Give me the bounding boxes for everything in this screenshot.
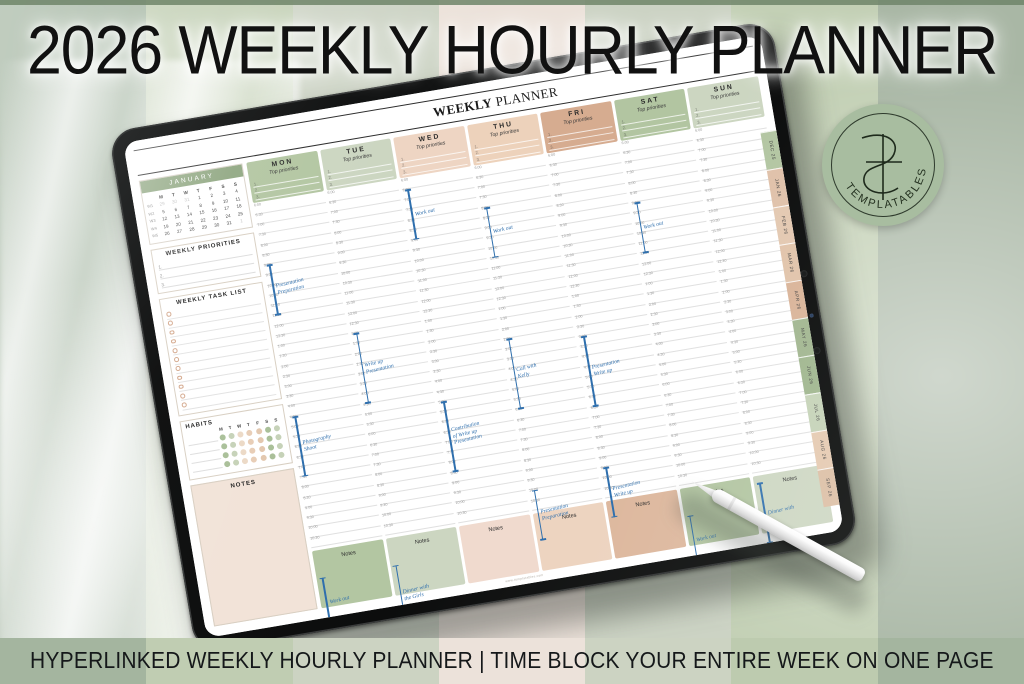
calendar-day-cell[interactable]: 31 <box>222 218 236 227</box>
day-priority-number: 1. <box>620 119 625 125</box>
sensor-dot <box>813 347 821 355</box>
time-slot-label: 12:30 <box>349 322 359 327</box>
time-slot-label: 5:30 <box>293 435 301 440</box>
habit-dot[interactable] <box>260 454 267 461</box>
day-priority-number: 1. <box>547 131 552 137</box>
time-slot-label: 12:00 <box>274 324 284 329</box>
time-slot-label: 5:00 <box>438 400 446 405</box>
month-tab-label: MAY 26 <box>800 328 808 348</box>
time-slot-label: 10:30 <box>751 461 761 466</box>
time-slot-label: 12:00 <box>347 311 357 316</box>
time-slot-label: 9:00 <box>672 444 680 449</box>
habit-dot[interactable] <box>256 428 263 435</box>
time-slot-label: 9:30 <box>306 516 314 521</box>
time-slot-label: 8:30 <box>670 434 678 439</box>
time-slot-label: 4:00 <box>287 405 295 410</box>
time-slot-label: 9:30 <box>339 261 347 266</box>
time-slot-label: 11:30 <box>272 314 282 319</box>
time-slot-label: 6:30 <box>549 163 557 168</box>
time-slot-label: 6:30 <box>664 393 672 398</box>
time-slot-label: 7:00 <box>404 198 412 203</box>
time-slot-label: 7:30 <box>741 401 749 406</box>
time-slot-label: 5:30 <box>734 361 742 366</box>
month-tab-label: SEP 26 <box>825 478 833 498</box>
habit-dot[interactable] <box>239 440 246 447</box>
time-slot-label: 9:00 <box>337 251 345 256</box>
day-notes-label: Notes <box>488 525 511 579</box>
time-slot-label: 10:30 <box>530 498 540 503</box>
task-checkbox-icon[interactable] <box>169 330 174 335</box>
time-slot-label: 5:30 <box>513 398 521 403</box>
time-slot-label: 12:30 <box>717 259 727 264</box>
time-slot-label: 8:30 <box>409 229 417 234</box>
day-priority-number: 2. <box>327 175 332 181</box>
calendar-day-cell[interactable]: 1 <box>235 216 249 225</box>
month-calendar[interactable]: JANUARY MTWTFSSW12930311234W2567891011W3… <box>139 163 253 245</box>
time-slot-label: 4:00 <box>508 368 516 373</box>
month-tab-label: DEC 25 <box>768 140 776 160</box>
time-slot-label: 5:00 <box>732 350 740 355</box>
time-slot-label: 1:00 <box>645 282 653 287</box>
time-slot-label: 2:30 <box>503 337 511 342</box>
background-top-strip <box>0 0 1024 5</box>
time-slot-label: 12:00 <box>641 262 651 267</box>
time-slot-label: 10:00 <box>749 451 759 456</box>
time-slot-label: 6:00 <box>253 203 261 208</box>
habit-dot[interactable] <box>222 452 229 459</box>
day-notes-box[interactable]: Notes <box>606 489 686 558</box>
day-notes-box[interactable]: Notes <box>459 514 539 583</box>
time-slot-label: 8:00 <box>742 411 750 416</box>
time-slot-label: 1:30 <box>647 292 655 297</box>
time-slot-label: 9:00 <box>452 481 460 486</box>
time-slot-label: 8:30 <box>482 216 490 221</box>
time-slot-label: 11:30 <box>346 301 356 306</box>
time-slot-label: 8:30 <box>335 241 343 246</box>
time-slot-label: 1:30 <box>720 280 728 285</box>
time-slot-label: 12:00 <box>421 299 431 304</box>
day-priority-number: 2. <box>474 150 479 156</box>
indicator-dot <box>809 313 814 318</box>
habit-dot[interactable] <box>274 425 281 432</box>
habit-dot[interactable] <box>231 450 238 457</box>
habit-dot[interactable] <box>257 437 264 444</box>
time-slot-label: 9:30 <box>527 479 535 484</box>
time-slot-label: 7:30 <box>479 196 487 201</box>
time-slot-label: 7:30 <box>373 463 381 468</box>
time-slot-label: 9:00 <box>525 469 533 474</box>
time-slot-label: 7:00 <box>330 211 338 216</box>
time-slot-label: 10:30 <box>457 511 467 516</box>
bottom-banner: HYPERLINKED WEEKLY HOURLY PLANNER | TIME… <box>0 638 1024 684</box>
time-slot-label: 10:30 <box>636 231 646 236</box>
time-slot-label: 11:30 <box>713 239 723 244</box>
time-slot-label: 1:30 <box>352 342 360 347</box>
time-slot-label: 6:00 <box>327 191 335 196</box>
time-slot-label: 8:30 <box>629 191 637 196</box>
time-slot-label: 7:00 <box>477 186 485 191</box>
time-slot-label: 7:00 <box>698 149 706 154</box>
time-slot-label: 6:30 <box>296 455 304 460</box>
time-slot-label: 2:00 <box>575 315 583 320</box>
month-tab-label: APR 26 <box>793 290 801 310</box>
time-slot-label: 7:30 <box>553 184 561 189</box>
day-priority-number: 3. <box>255 194 260 200</box>
time-slot-label: 6:30 <box>255 213 263 218</box>
habit-dot[interactable] <box>242 458 249 465</box>
time-slot-label: 12:30 <box>570 284 580 289</box>
tablet-device: WEEKLY PLANNER JANUARY MTWTFSSW129303112… <box>108 16 892 684</box>
time-slot-label: 3:00 <box>725 310 733 315</box>
time-slot-label: 10:30 <box>383 523 393 528</box>
time-slot-label: 10:30 <box>342 281 352 286</box>
time-slot-label: 9:30 <box>706 199 714 204</box>
time-slot-label: 9:00 <box>558 214 566 219</box>
time-slot-label: 7:30 <box>299 476 307 481</box>
time-slot-label: 6:00 <box>515 408 523 413</box>
time-slot-label: 9:30 <box>600 466 608 471</box>
habit-dot[interactable] <box>228 433 235 440</box>
habit-name-field[interactable] <box>192 462 223 473</box>
time-slot-label: 5:00 <box>585 375 593 380</box>
time-slot-label: 4:30 <box>730 340 738 345</box>
time-slot-label: 8:30 <box>703 179 711 184</box>
time-slot-label: 4:30 <box>510 378 518 383</box>
task-checkbox-icon[interactable] <box>181 402 186 407</box>
time-slot-label: 2:00 <box>648 302 656 307</box>
month-tab-label: JUN 26 <box>806 365 814 384</box>
habit-dot[interactable] <box>275 434 282 441</box>
time-slot-label: 11:30 <box>419 289 429 294</box>
time-slot-label: 11:00 <box>491 266 501 271</box>
time-slot-label: 11:30 <box>566 264 576 269</box>
time-slot-label: 6:00 <box>735 371 743 376</box>
time-slot-label: 8:30 <box>450 471 458 476</box>
time-slot-label: 9:30 <box>559 224 567 229</box>
priority-number: 3. <box>161 282 166 288</box>
day-priority-number: 1. <box>326 168 331 174</box>
time-slot-label: 9:00 <box>378 493 386 498</box>
habits-panel[interactable]: HABITS MTWTFSS <box>179 403 293 480</box>
time-slot-label: 9:30 <box>486 236 494 241</box>
time-slot-label: 10:30 <box>489 256 499 261</box>
time-slot-label: 5:30 <box>587 385 595 390</box>
task-checkbox-icon[interactable] <box>174 357 179 362</box>
time-slot-label: 10:00 <box>308 526 318 531</box>
time-slot-label: 3:30 <box>580 345 588 350</box>
time-slot-label: 6:30 <box>737 381 745 386</box>
time-slot-label: 7:30 <box>667 413 675 418</box>
sidebar-notes-panel[interactable]: NOTES <box>190 468 317 627</box>
time-slot-label: 10:00 <box>340 271 350 276</box>
habit-dot[interactable] <box>269 453 276 460</box>
time-slot-label: 6:00 <box>368 433 376 438</box>
time-slot-label: 10:00 <box>635 221 645 226</box>
time-slot-label: 12:30 <box>423 309 433 314</box>
time-slot-label: 2:30 <box>723 300 731 305</box>
day-priority-number: 3. <box>622 132 627 138</box>
time-slot-label: 5:30 <box>440 410 448 415</box>
time-slot-label: 10:00 <box>488 246 498 251</box>
day-priority-number: 1. <box>473 143 478 149</box>
task-list-lines[interactable] <box>166 295 277 410</box>
time-slot-label: 8:00 <box>260 243 268 248</box>
day-notes-box[interactable]: Notes <box>312 539 392 608</box>
time-slot-label: 10:00 <box>708 209 718 214</box>
habit-dot[interactable] <box>268 444 275 451</box>
priority-number: 2. <box>159 273 164 279</box>
day-priority-number: 2. <box>401 162 406 168</box>
time-slot-label: 10:00 <box>602 476 612 481</box>
time-slot-label: 4:00 <box>582 355 590 360</box>
task-checkbox-icon[interactable] <box>175 366 180 371</box>
day-notes-label: Notes <box>415 537 438 591</box>
time-slot-label: 7:30 <box>446 451 454 456</box>
day-priority-number: 1. <box>694 106 699 112</box>
time-slot-label: 3:30 <box>727 320 735 325</box>
sidebar-notes-title: NOTES <box>230 479 277 612</box>
time-slot-label: 3:30 <box>359 382 367 387</box>
time-slot-label: 6:00 <box>694 128 702 133</box>
time-slot-label: 8:30 <box>597 446 605 451</box>
time-slot-label: 3:00 <box>358 372 366 377</box>
time-slot-label: 6:30 <box>443 431 451 436</box>
time-slot-label: 8:00 <box>407 219 415 224</box>
time-slot-label: 6:30 <box>476 176 484 181</box>
time-slot-label: 7:00 <box>518 428 526 433</box>
time-slot-label: 2:30 <box>650 312 658 317</box>
time-slot-label: 10:00 <box>414 259 424 264</box>
time-slot-label: 4:30 <box>657 353 665 358</box>
habit-dot[interactable] <box>278 451 285 458</box>
day-priority-number: 1. <box>400 156 405 162</box>
day-priority-number: 3. <box>696 119 701 125</box>
habit-dot[interactable] <box>248 438 255 445</box>
calendar-day-cell[interactable]: 27 <box>173 227 187 236</box>
task-checkbox-icon[interactable] <box>166 312 171 317</box>
habit-dot[interactable] <box>223 461 230 468</box>
habit-dot[interactable] <box>237 431 244 438</box>
time-slot-label: 2:00 <box>281 365 289 370</box>
svg-text:TEMPLATABLES: TEMPLATABLES <box>843 166 930 211</box>
calendar-day-cell[interactable]: 28 <box>185 225 199 234</box>
time-slot-label: 9:30 <box>453 491 461 496</box>
time-slot-label: 1:00 <box>351 332 359 337</box>
calendar-day-cell[interactable]: 30 <box>210 221 224 230</box>
tablet-frame: WEEKLY PLANNER JANUARY MTWTFSSW129303112… <box>108 20 859 653</box>
time-slot-label: 9:00 <box>264 264 272 269</box>
time-slot-label: 1:30 <box>499 317 507 322</box>
time-slot-label: 6:30 <box>590 406 598 411</box>
time-slot-label: 8:00 <box>669 423 677 428</box>
habit-dot[interactable] <box>251 456 258 463</box>
time-slot-label: 6:00 <box>588 396 596 401</box>
habit-dot[interactable] <box>265 426 272 433</box>
task-checkbox-icon[interactable] <box>168 321 173 326</box>
time-slot-label: 10:30 <box>563 244 573 249</box>
month-tab-label: FEB 26 <box>781 216 789 235</box>
day-notes-box[interactable]: Notes <box>385 527 465 596</box>
time-slot-label: 11:00 <box>564 254 574 259</box>
time-slot-label: 1:30 <box>573 305 581 310</box>
time-slot-label: 2:00 <box>354 352 362 357</box>
time-slot-label: 1:30 <box>279 354 287 359</box>
time-slot-label: 8:30 <box>262 254 270 259</box>
time-slot-label: 12:30 <box>275 334 285 339</box>
time-slot-label: 8:30 <box>744 421 752 426</box>
habit-dot[interactable] <box>219 434 226 441</box>
time-slot-label: 4:00 <box>655 343 663 348</box>
time-slot-label: 9:30 <box>674 454 682 459</box>
month-tab-label: AUG 26 <box>819 440 827 461</box>
task-checkbox-icon[interactable] <box>177 375 182 380</box>
time-slot-label: 1:00 <box>277 344 285 349</box>
time-slot-label: 9:00 <box>304 506 312 511</box>
time-slot-label: 11:00 <box>417 279 427 284</box>
time-slot-label: 7:30 <box>405 209 413 214</box>
time-slot-label: 7:00 <box>624 161 632 166</box>
time-slot-label: 2:30 <box>356 362 364 367</box>
time-slot-label: 8:00 <box>481 206 489 211</box>
month-tab-label: MAR 26 <box>787 252 795 273</box>
day-priority-number: 3. <box>475 156 480 162</box>
time-slot-label: 5:30 <box>660 373 668 378</box>
time-slot-label: 2:00 <box>428 340 436 345</box>
time-slot-label: 12:00 <box>494 287 504 292</box>
habit-dot[interactable] <box>249 447 256 454</box>
habit-dot[interactable] <box>259 446 266 453</box>
time-slot-label: 1:00 <box>498 307 506 312</box>
time-slot-label: 6:00 <box>400 178 408 183</box>
task-checkbox-icon[interactable] <box>171 339 176 344</box>
time-slot-label: 11:00 <box>344 291 354 296</box>
time-slot-label: 10:30 <box>710 219 720 224</box>
time-slot-label: 7:30 <box>258 233 266 238</box>
time-slot-label: 9:00 <box>746 431 754 436</box>
time-slot-label: 9:00 <box>705 189 713 194</box>
time-slot-label: 11:30 <box>493 277 503 282</box>
calendar-day-cell[interactable]: 29 <box>198 223 212 232</box>
day-notes-box[interactable]: Notes <box>533 502 613 571</box>
time-slot-label: 10:30 <box>604 486 614 491</box>
time-slot-label: 10:30 <box>677 474 687 479</box>
time-slot-label: 10:30 <box>416 269 426 274</box>
time-slot-label: 5:30 <box>366 423 374 428</box>
time-slot-label: 6:30 <box>517 418 525 423</box>
time-slot-label: 6:00 <box>621 141 629 146</box>
time-slot-label: 7:00 <box>371 453 379 458</box>
time-slot-label: 3:00 <box>284 385 292 390</box>
time-slot-label: 10:00 <box>381 513 391 518</box>
time-slot-label: 7:00 <box>739 391 747 396</box>
time-slot-label: 8:30 <box>376 483 384 488</box>
habit-dot[interactable] <box>220 443 227 450</box>
time-slot-label: 6:30 <box>402 188 410 193</box>
day-priority-number: 2. <box>695 113 700 119</box>
task-checkbox-icon[interactable] <box>178 384 183 389</box>
time-slot-label: 10:00 <box>455 501 465 506</box>
time-slot-label: 8:00 <box>375 473 383 478</box>
time-slot-label: 12:30 <box>496 297 506 302</box>
time-slot-label: 4:30 <box>363 403 371 408</box>
time-slot-label: 6:00 <box>441 420 449 425</box>
time-slot-label: 8:00 <box>334 231 342 236</box>
time-slot-label: 7:00 <box>592 416 600 421</box>
time-slot-label: 9:00 <box>599 456 607 461</box>
time-slot-label: 7:00 <box>445 441 453 446</box>
time-slot-label: 11:30 <box>640 252 650 257</box>
time-slot-label: 2:30 <box>429 350 437 355</box>
time-slot-label: 9:30 <box>747 441 755 446</box>
time-slot-label: 6:00 <box>474 166 482 171</box>
time-slot-label: 8:00 <box>595 436 603 441</box>
time-slot-label: 4:00 <box>361 392 369 397</box>
day-priority-number: 1. <box>252 181 257 187</box>
time-slot-label: 3:00 <box>505 347 513 352</box>
habit-dot[interactable] <box>266 435 273 442</box>
time-slot-label: 4:30 <box>583 365 591 370</box>
banner-text: HYPERLINKED WEEKLY HOURLY PLANNER | TIME… <box>30 648 994 674</box>
time-slot-label: 10:00 <box>561 234 571 239</box>
time-slot-label: 9:00 <box>631 201 639 206</box>
time-slot-label: 7:30 <box>593 426 601 431</box>
time-slot-label: 5:00 <box>511 388 519 393</box>
time-slot-label: 10:00 <box>267 283 277 288</box>
templatables-logo-badge: TEMPLATABLES <box>822 104 944 226</box>
task-checkbox-icon[interactable] <box>180 393 185 398</box>
day-priority-number: 3. <box>549 144 554 150</box>
time-slot-label: 5:00 <box>364 413 372 418</box>
habit-dot[interactable] <box>230 441 237 448</box>
time-slot-label: 5:00 <box>658 363 666 368</box>
time-slot-label: 1:00 <box>571 295 579 300</box>
time-slot-label: 7:30 <box>332 221 340 226</box>
habit-dot[interactable] <box>233 459 240 466</box>
habit-dot[interactable] <box>240 449 247 456</box>
time-slot-label: 7:30 <box>700 159 708 164</box>
time-slot-label: 3:00 <box>431 360 439 365</box>
time-slot-label: 8:00 <box>701 169 709 174</box>
time-slot-label: 4:00 <box>434 380 442 385</box>
day-priority-number: 2. <box>548 138 553 144</box>
logo-word-text: TEMPLATABLES <box>843 166 930 211</box>
page-title: 2026 WEEKLY HOURLY PLANNER <box>27 9 997 88</box>
day-notes-label: Notes <box>562 513 585 567</box>
time-slot-label: 3:30 <box>653 333 661 338</box>
calendar-day-cell[interactable]: 26 <box>160 229 174 238</box>
time-slot-label: 11:00 <box>270 304 280 309</box>
time-slot-label: 6:00 <box>662 383 670 388</box>
habit-dot[interactable] <box>277 443 284 450</box>
day-priority-number: 3. <box>402 169 407 175</box>
time-slot-label: 6:30 <box>329 201 337 206</box>
time-slot-label: 9:00 <box>484 226 492 231</box>
weekly-task-list-panel[interactable]: WEEKLY TASK LIST <box>159 282 282 416</box>
habit-dot[interactable] <box>246 429 253 436</box>
camera-dot <box>800 270 808 278</box>
time-slot-label: 8:00 <box>301 486 309 491</box>
time-slot-label: 10:30 <box>310 536 320 541</box>
day-priority-number: 3. <box>328 181 333 187</box>
logo-wordmark: TEMPLATABLES <box>822 104 944 226</box>
time-slot-label: 6:30 <box>369 443 377 448</box>
task-checkbox-icon[interactable] <box>172 348 177 353</box>
time-slot-label: 12:30 <box>643 272 653 277</box>
time-slot-label: 3:30 <box>506 358 514 363</box>
time-slot-label: 1:00 <box>718 270 726 275</box>
time-slot-label: 7:00 <box>298 465 306 470</box>
time-slot-label: 8:00 <box>554 194 562 199</box>
